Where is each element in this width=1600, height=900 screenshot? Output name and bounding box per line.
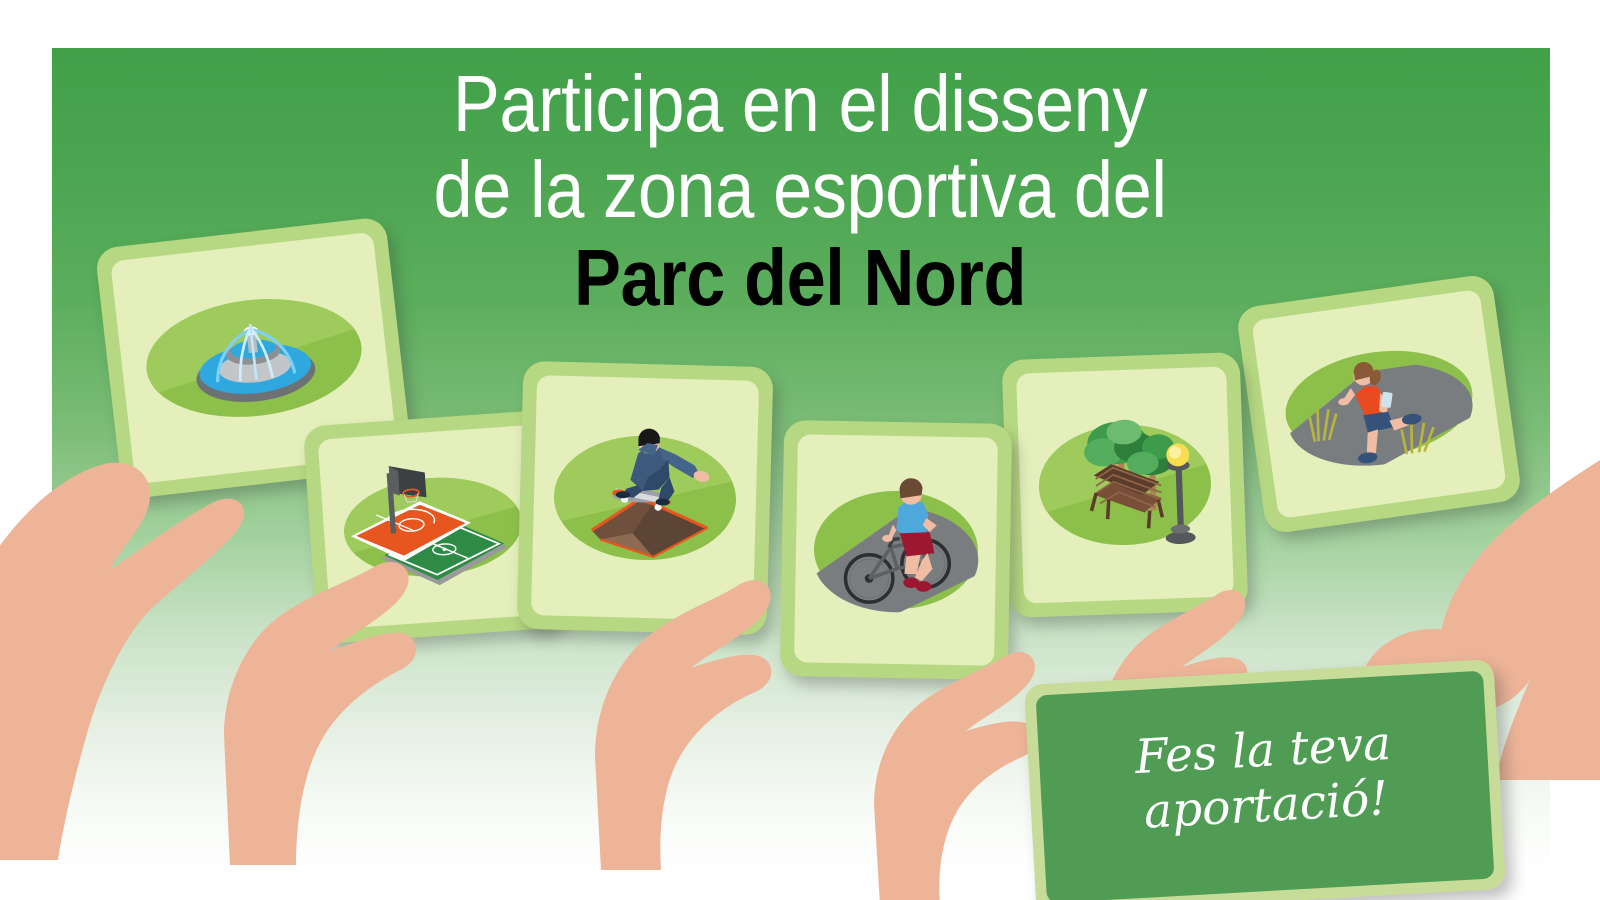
poster-canvas: Participa en el disseny de la zona espor…: [0, 0, 1600, 900]
footer: Ajuntament de Sabadell Hi col·labora: Di…: [0, 790, 1600, 900]
headline-line-1: Participa en el disseny: [96, 66, 1504, 142]
headline-line-2: de la zona esportiva del: [96, 152, 1504, 228]
page-title: Participa en el disseny de la zona espor…: [0, 66, 1600, 316]
headline-line-3: Parc del Nord: [96, 240, 1504, 316]
